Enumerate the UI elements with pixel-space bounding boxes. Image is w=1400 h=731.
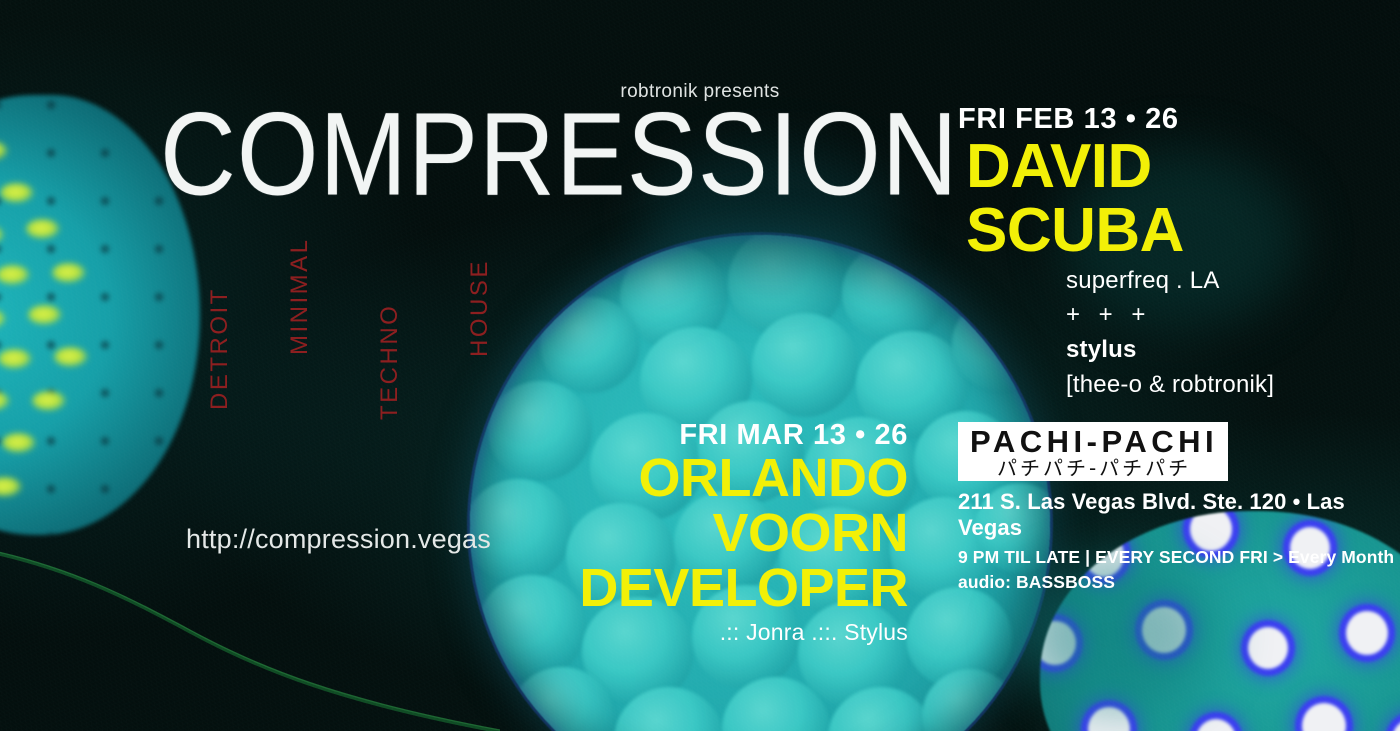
event-headliner-mar-line2: DEVELOPER bbox=[470, 561, 908, 616]
event-flyer: robtronik presents COMPRESSION DETROIT M… bbox=[0, 0, 1400, 731]
genre-tag-detroit: DETROIT bbox=[206, 287, 234, 410]
venue-audio: audio: BASSBOSS bbox=[958, 572, 1400, 593]
event-block-mar: FRI MAR 13 • 26 ORLANDO VOORN DEVELOPER … bbox=[470, 420, 908, 649]
genre-tag-house: HOUSE bbox=[466, 259, 494, 357]
event-date-mar: FRI MAR 13 • 26 bbox=[470, 420, 908, 451]
event-headliner-feb-line1: DAVID bbox=[958, 135, 1274, 199]
page-title: COMPRESSION bbox=[160, 96, 950, 214]
venue-hours: 9 PM TIL LATE | EVERY SECOND FRI > Every… bbox=[958, 547, 1400, 568]
event-support-feb-members: [thee-o & robtronik] bbox=[958, 368, 1274, 403]
event-support-feb-label: superfreq . LA bbox=[958, 264, 1274, 299]
venue-name-kana: パチパチ‐パチパチ bbox=[970, 458, 1218, 478]
venue-logo: PACHI-PACHI パチパチ‐パチパチ bbox=[958, 422, 1228, 481]
venue-address: 211 S. Las Vegas Blvd. Ste. 120 • Las Ve… bbox=[958, 489, 1400, 542]
event-support-feb-separator: + + + bbox=[958, 298, 1274, 333]
genre-tag-minimal: MINIMAL bbox=[286, 237, 314, 355]
event-date-feb: FRI FEB 13 • 26 bbox=[958, 104, 1274, 135]
event-headliner-feb-line2: SCUBA bbox=[958, 199, 1274, 263]
event-headliner-mar-line1: ORLANDO VOORN bbox=[470, 451, 908, 561]
venue-block: PACHI-PACHI パチパチ‐パチパチ 211 S. Las Vegas B… bbox=[958, 422, 1400, 593]
event-block-feb: FRI FEB 13 • 26 DAVID SCUBA superfreq . … bbox=[958, 104, 1274, 403]
website-url[interactable]: http://compression.vegas bbox=[186, 524, 491, 555]
event-support-mar: .:: Jonra .::. Stylus bbox=[470, 616, 908, 649]
venue-name-latin: PACHI-PACHI bbox=[970, 426, 1218, 457]
genre-tag-techno: TECHNO bbox=[376, 304, 404, 420]
event-support-feb-artist: stylus bbox=[958, 333, 1274, 368]
